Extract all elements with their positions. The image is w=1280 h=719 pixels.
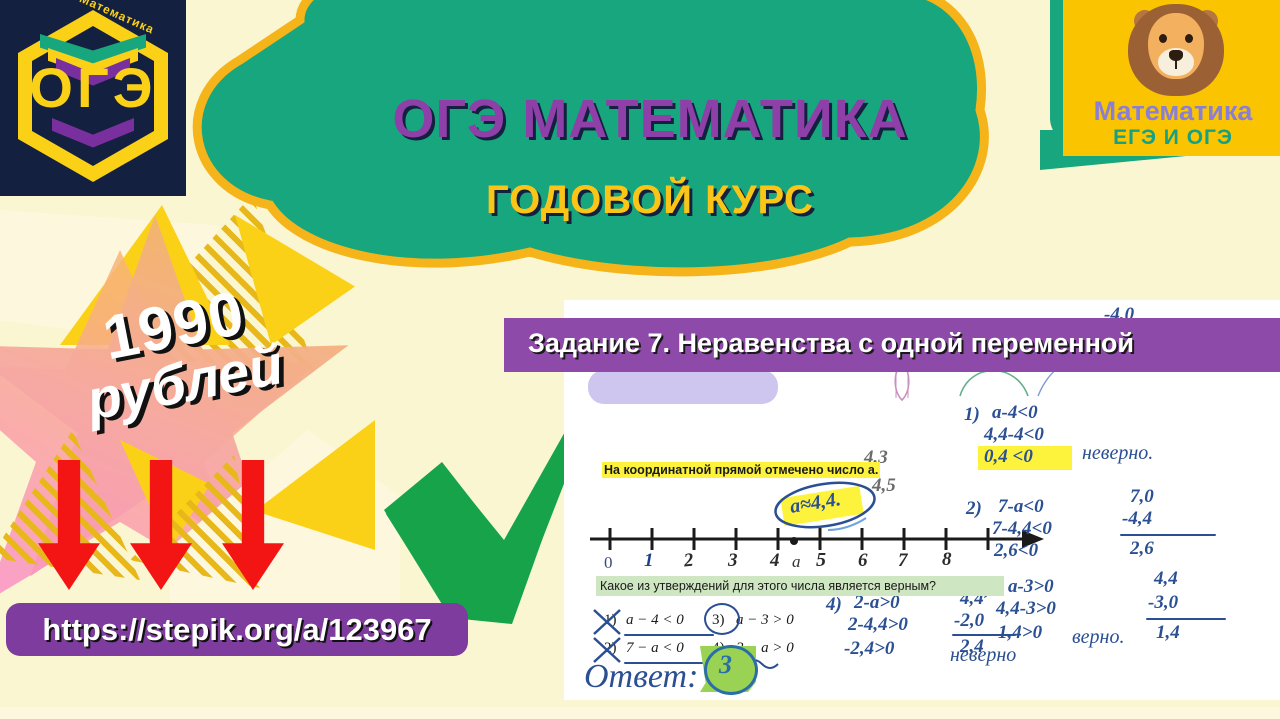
page-title: ОГЭ МАТЕМАТИКА	[300, 88, 1000, 150]
solution-3-col2: -3,0	[1148, 592, 1178, 614]
solution-2-col1: 7,0	[1130, 486, 1154, 508]
lion-icon	[1128, 4, 1224, 96]
option-1-underline	[624, 634, 714, 636]
solution-1-line1: a-4<0	[992, 402, 1038, 424]
solution-4-line3: -2,4>0	[844, 638, 894, 660]
page-subtitle: ГОДОВОЙ КУРС	[300, 178, 1000, 223]
solution-1-line2: 4,4-4<0	[984, 424, 1044, 446]
lion-eye-left	[1159, 34, 1167, 43]
solution-2-line3: 2,6<0	[994, 540, 1038, 562]
answer-value: 3	[719, 650, 732, 680]
oge-logo: Математика ОГЭ	[0, 0, 186, 196]
lesson-banner: Задание 7. Неравенства с одной переменно…	[504, 318, 1280, 372]
solution-2-num: 2)	[966, 498, 982, 520]
solution-4-num: 4)	[826, 594, 842, 616]
option-2-expr: 7 − a < 0	[626, 640, 684, 657]
brand-badge-line2: ЕГЭ И ОГЭ	[1063, 126, 1280, 150]
solution-3-line1: a-3>0	[1008, 576, 1054, 598]
worksheet-placeholder-chip	[588, 370, 778, 404]
solution-2-col2: -4,4	[1122, 508, 1152, 530]
option-3-expr: a − 3 > 0	[736, 612, 794, 629]
bottom-frame-edge	[0, 707, 1280, 719]
solution-3-line3: 1,4>0	[998, 622, 1042, 644]
course-url-pill[interactable]: https://stepik.org/a/123967	[6, 603, 468, 656]
a-value-circle-annotation	[770, 478, 880, 536]
solution-3-line2: 4,4-3>0	[996, 598, 1056, 620]
solution-2-line2: 7-4,4<0	[992, 518, 1052, 540]
solution-3-col3: 1,4	[1156, 622, 1180, 644]
option-3-circle-annotation	[704, 603, 740, 635]
course-url-text: https://stepik.org/a/123967	[42, 612, 431, 648]
solution-2-line1: 7-a<0	[998, 496, 1044, 518]
brand-badge-line1: Математика	[1063, 96, 1280, 127]
solution-3-col1: 4,4	[1154, 568, 1178, 590]
guess-low: 4,5	[872, 475, 896, 497]
solution-1-line3: 0,4 <0	[984, 446, 1033, 468]
logo-main-text: ОГЭ	[0, 60, 186, 116]
solution-4-line2: 2-4,4>0	[848, 614, 908, 636]
problem-statement: На координатной прямой отмечено число a.	[602, 462, 880, 478]
lion-nose	[1169, 50, 1183, 61]
slide-canvas: ОГЭ МАТЕМАТИКА ГОДОВОЙ КУРС Математика О…	[0, 0, 1280, 719]
answer-label: Ответ:	[584, 658, 698, 696]
solution-4-col2: -2,0	[954, 610, 984, 632]
solution-2-col-rule	[1120, 534, 1216, 536]
lion-eye-right	[1185, 34, 1193, 43]
solution-2-col3: 2,6	[1130, 538, 1154, 560]
solution-1-verdict: неверно.	[1082, 442, 1153, 465]
solution-3-verdict: верно.	[1072, 626, 1124, 649]
solution-1-num: 1)	[964, 404, 980, 426]
solution-3-col-rule	[1146, 618, 1226, 620]
problem-question: Какое из утверждений для этого числа явл…	[596, 576, 1004, 596]
lesson-banner-text: Задание 7. Неравенства с одной переменно…	[528, 328, 1134, 359]
solution-4-col3: 2,4	[960, 636, 984, 658]
option-1-expr: a − 4 < 0	[626, 612, 684, 629]
